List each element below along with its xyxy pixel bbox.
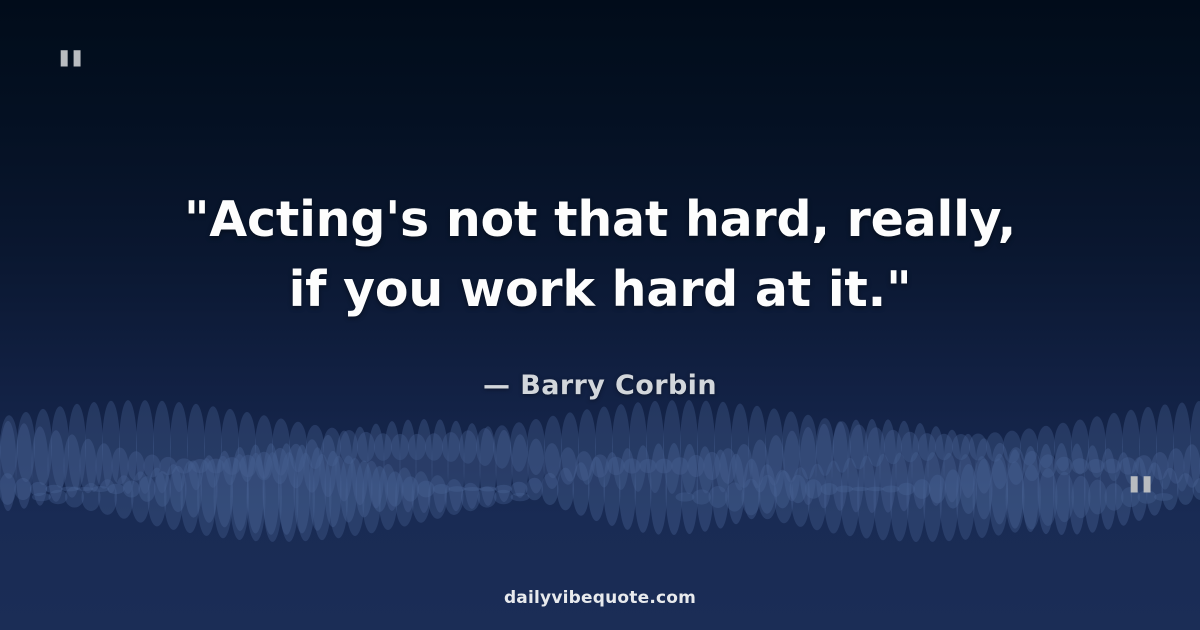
site-url-label: dailyvibequote.com (504, 588, 696, 608)
quote-content: "Acting's not that hard, really, if you … (0, 0, 1200, 630)
quote-text: "Acting's not that hard, really, if you … (90, 185, 1110, 324)
quote-author: — Barry Corbin (483, 370, 717, 401)
quote-card: " " "Acting's not that hard, really, if … (0, 0, 1200, 630)
footer: dailyvibequote.com (0, 588, 1200, 608)
